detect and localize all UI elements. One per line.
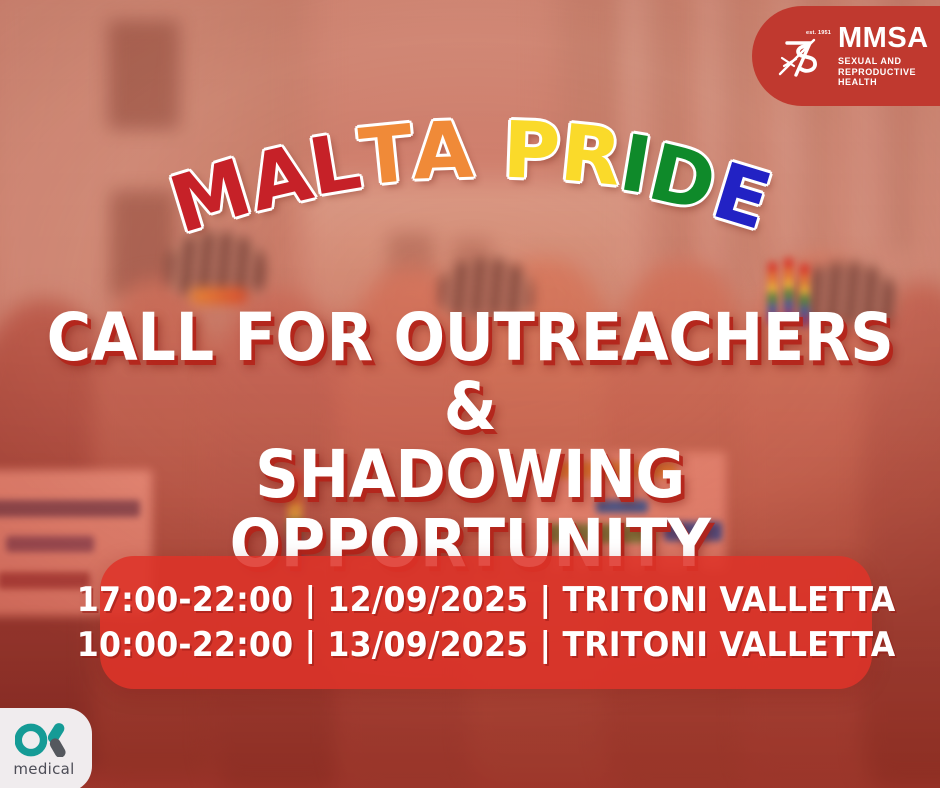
pride-title-letter: A — [412, 112, 475, 192]
mmsa-subtitle-line-2: REPRODUCTIVE — [838, 67, 929, 78]
pride-title: MALTAPRIDE — [0, 112, 940, 232]
pride-title-letter: R — [557, 114, 625, 198]
ok-medical-logo: medical — [0, 708, 92, 788]
ok-medical-capsule-icon — [15, 723, 73, 757]
ok-medical-wordmark: medical — [13, 760, 74, 778]
mmsa-subtitle-line-1: SEXUAL AND — [838, 56, 929, 67]
mmsa-75-anniversary-icon: est. 1951 — [774, 28, 830, 84]
mmsa-logo: est. 1951 MMSA SEXUAL AND REPRODUCTIVE H… — [752, 6, 940, 106]
mmsa-name: MMSA — [838, 24, 929, 53]
pride-event-poster: est. 1951 MMSA SEXUAL AND REPRODUCTIVE H… — [0, 0, 940, 788]
headline: CALL FOR OUTREACHERS & SHADOWING OPPORTU… — [0, 304, 940, 579]
mmsa-subtitle: SEXUAL AND REPRODUCTIVE HEALTH — [838, 56, 929, 89]
pride-title-letter: T — [356, 115, 417, 198]
date-banner: 17:00-22:00 | 12/09/2025 | TRITONI VALLE… — [100, 556, 872, 689]
pride-title-letter: P — [502, 112, 562, 192]
headline-line-1: CALL FOR OUTREACHERS & — [38, 304, 903, 441]
date-banner-line-1: 17:00-22:00 | 12/09/2025 | TRITONI VALLE… — [77, 580, 896, 620]
mmsa-wordmark: MMSA SEXUAL AND REPRODUCTIVE HEALTH — [838, 24, 929, 89]
date-banner-line-2: 10:00-22:00 | 13/09/2025 | TRITONI VALLE… — [77, 625, 896, 665]
mmsa-subtitle-line-3: HEALTH — [838, 77, 929, 88]
mmsa-established-label: est. 1951 — [806, 30, 831, 36]
